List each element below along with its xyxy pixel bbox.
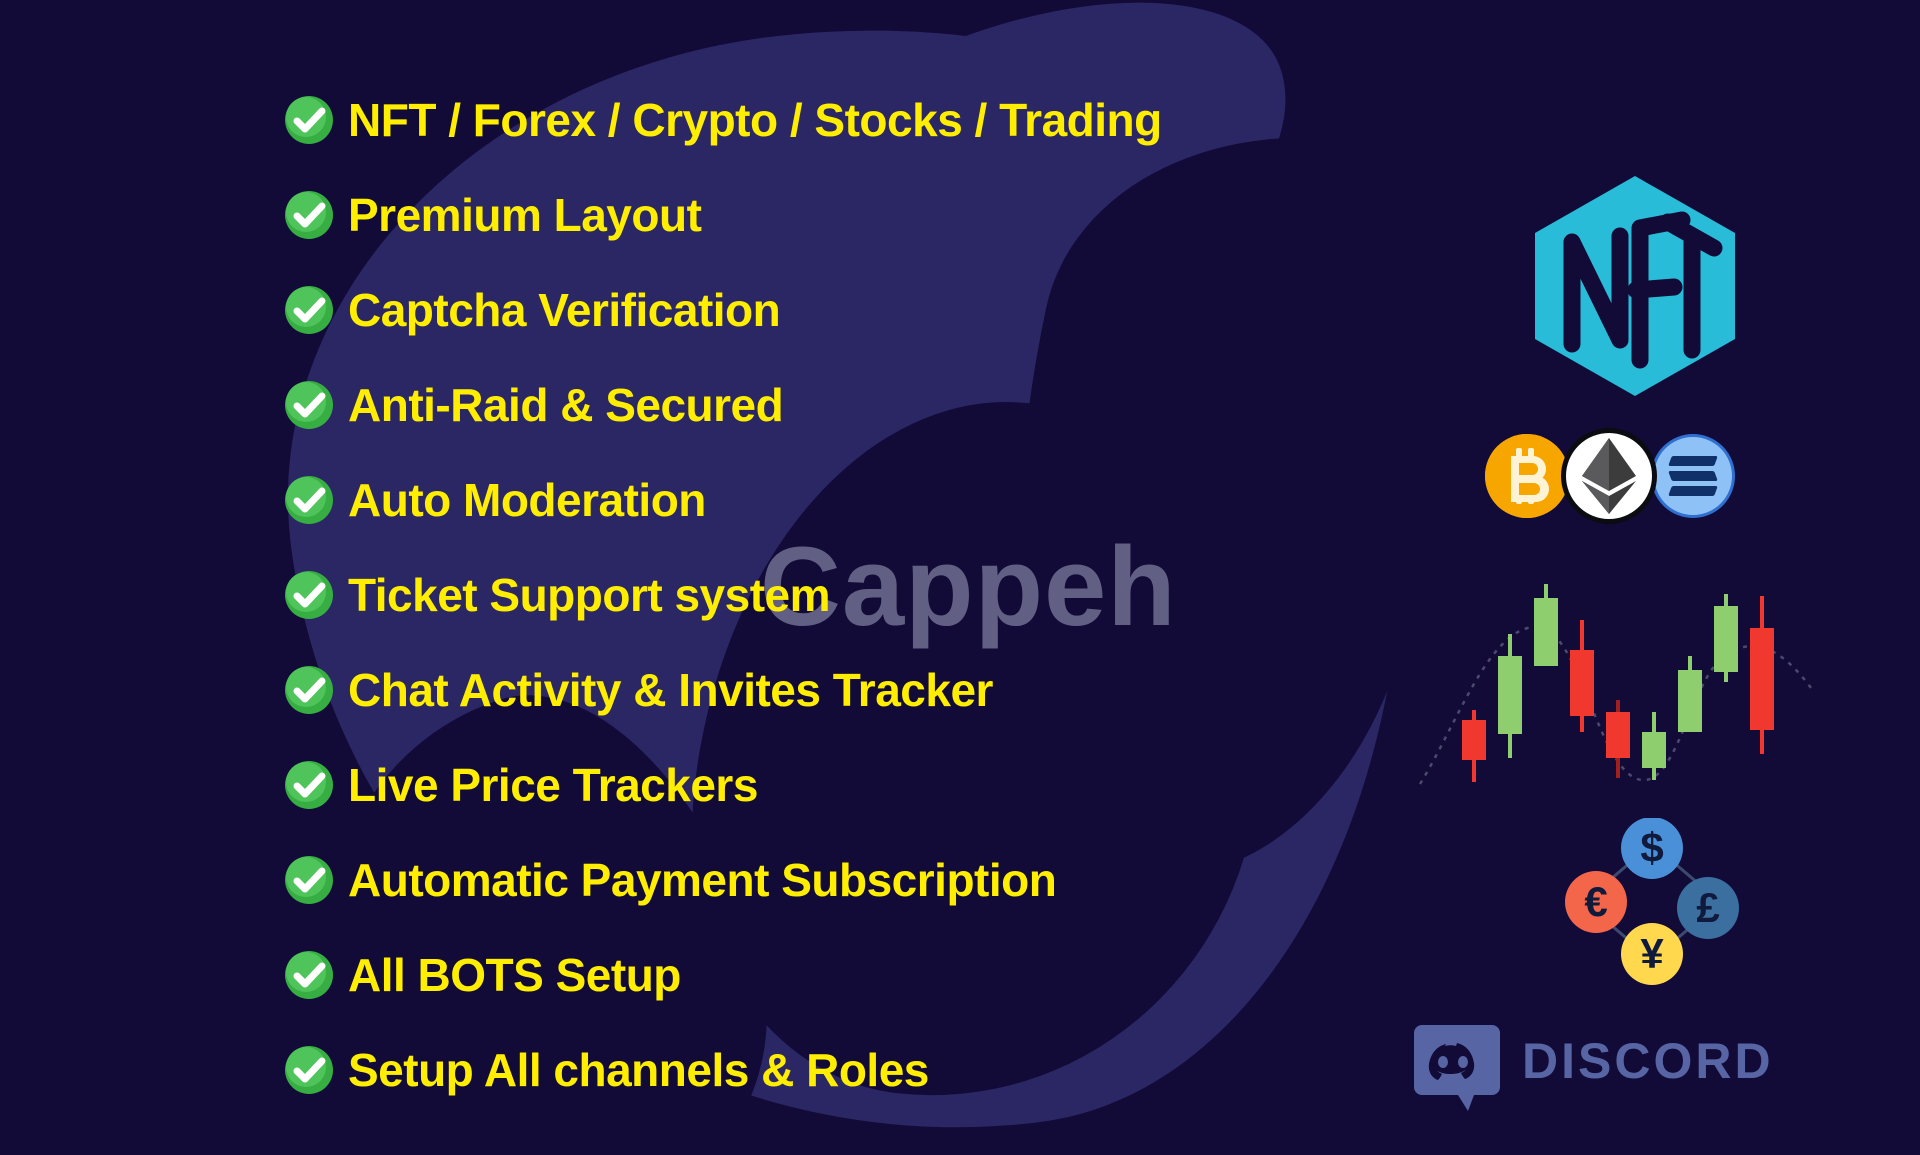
feature-label: All BOTS Setup xyxy=(348,952,681,998)
list-item: NFT / Forex / Crypto / Stocks / Trading xyxy=(284,72,1404,167)
feature-label: Setup All channels & Roles xyxy=(348,1047,929,1093)
feature-label: Automatic Payment Subscription xyxy=(348,857,1056,903)
list-item: Chat Activity & Invites Tracker xyxy=(284,642,1404,737)
solana-coin-icon xyxy=(1651,434,1735,518)
check-circle-icon xyxy=(284,950,334,1000)
check-circle-icon xyxy=(284,95,334,145)
feature-label: Ticket Support system xyxy=(348,572,830,618)
discord-wordmark-text: DISCORD xyxy=(1522,1036,1774,1089)
bitcoin-coin-icon xyxy=(1485,434,1569,518)
discord-wordmark: DISCORD xyxy=(1522,1036,1790,1095)
check-circle-icon xyxy=(284,190,334,240)
list-item: Anti-Raid & Secured xyxy=(284,357,1404,452)
list-item: Setup All channels & Roles xyxy=(284,1022,1404,1117)
check-circle-icon xyxy=(284,760,334,810)
list-item: Premium Layout xyxy=(284,167,1404,262)
feature-label: Premium Layout xyxy=(348,192,701,238)
feature-label: Anti-Raid & Secured xyxy=(348,382,783,428)
promo-banner: Cappeh NFT / Forex / Crypto / Stocks / T… xyxy=(0,0,1920,1155)
candlestick-chart xyxy=(1418,572,1818,800)
feature-label: Live Price Trackers xyxy=(348,762,758,808)
discord-logo: DISCORD xyxy=(1412,1010,1792,1120)
list-item: All BOTS Setup xyxy=(284,927,1404,1022)
check-circle-icon xyxy=(284,380,334,430)
feature-label: Captcha Verification xyxy=(348,287,780,333)
forex-currency-icon: $ € £ ¥ xyxy=(1552,818,1752,986)
crypto-coins-row xyxy=(1485,428,1735,524)
list-item: Auto Moderation xyxy=(284,452,1404,547)
check-circle-icon xyxy=(284,665,334,715)
solana-bars-icon xyxy=(1670,456,1716,496)
feature-label: NFT / Forex / Crypto / Stocks / Trading xyxy=(348,97,1162,143)
list-item: Automatic Payment Subscription xyxy=(284,832,1404,927)
check-circle-icon xyxy=(284,475,334,525)
check-circle-icon xyxy=(284,1045,334,1095)
feature-label: Chat Activity & Invites Tracker xyxy=(348,667,993,713)
ethereum-coin-icon xyxy=(1561,428,1657,524)
svg-text:$: $ xyxy=(1640,824,1663,871)
list-item: Ticket Support system xyxy=(284,547,1404,642)
nft-hexagon-logo xyxy=(1528,172,1742,400)
check-circle-icon xyxy=(284,285,334,335)
check-circle-icon xyxy=(284,855,334,905)
svg-text:€: € xyxy=(1584,878,1607,925)
discord-bubble-icon xyxy=(1412,1017,1508,1113)
svg-text:¥: ¥ xyxy=(1640,930,1664,977)
feature-label: Auto Moderation xyxy=(348,477,706,523)
svg-text:£: £ xyxy=(1696,884,1719,931)
check-circle-icon xyxy=(284,570,334,620)
list-item: Captcha Verification xyxy=(284,262,1404,357)
feature-list: NFT / Forex / Crypto / Stocks / Trading … xyxy=(284,72,1404,1117)
list-item: Live Price Trackers xyxy=(284,737,1404,832)
